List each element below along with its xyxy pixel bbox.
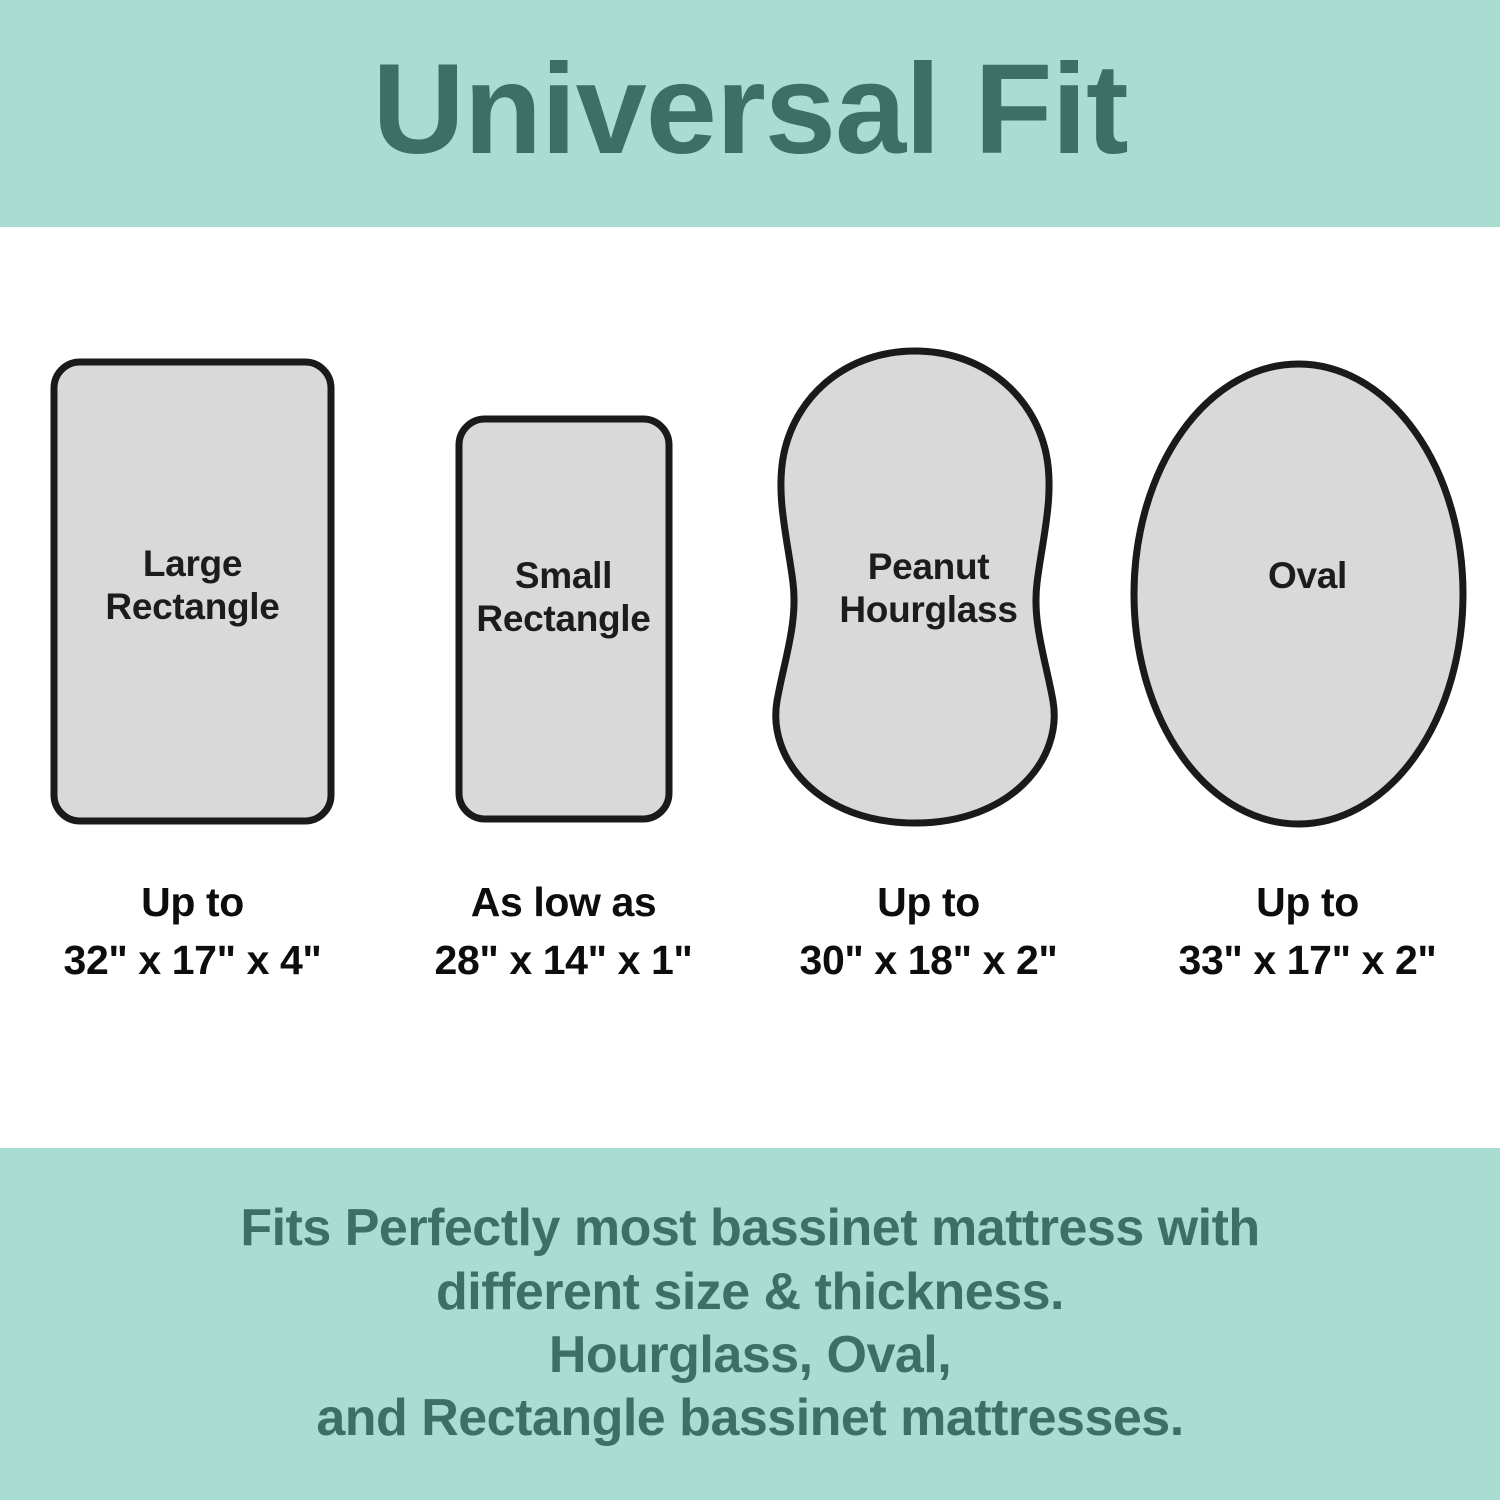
shape-cell-peanut-hourglass: Peanut Hourglass Up to 30" x 18" x 2": [742, 227, 1115, 1148]
shape-label-large-rectangle: Large Rectangle: [0, 542, 385, 629]
footer-line-4: and Rectangle bassinet mattresses.: [316, 1387, 1183, 1450]
shape-caption-peanut-hourglass: Up to 30" x 18" x 2": [742, 873, 1115, 989]
shape-cell-small-rectangle: Small Rectangle As low as 28" x 14" x 1": [385, 227, 742, 1148]
shape-cell-large-rectangle: Large Rectangle Up to 32" x 17" x 4": [0, 227, 385, 1148]
footer-line-3: Hourglass, Oval,: [549, 1324, 951, 1387]
universal-fit-infographic: Universal Fit Large Rectangle Up to 32" …: [0, 0, 1500, 1500]
footer-band: Fits Perfectly most bassinet mattress wi…: [0, 1148, 1500, 1500]
shape-cell-oval: Oval Up to 33" x 17" x 2": [1115, 227, 1500, 1148]
shape-caption-small-rectangle: As low as 28" x 14" x 1": [385, 873, 742, 989]
footer-line-1: Fits Perfectly most bassinet mattress wi…: [240, 1197, 1259, 1260]
shape-label-peanut-hourglass: Peanut Hourglass: [742, 545, 1115, 632]
shape-label-small-rectangle: Small Rectangle: [385, 554, 742, 641]
header-band: Universal Fit: [0, 0, 1500, 227]
footer-line-2: different size & thickness.: [436, 1261, 1064, 1324]
shapes-row: Large Rectangle Up to 32" x 17" x 4" Sma…: [0, 227, 1500, 1148]
shape-caption-oval: Up to 33" x 17" x 2": [1115, 873, 1500, 989]
shape-label-oval: Oval: [1115, 554, 1500, 597]
page-title: Universal Fit: [372, 46, 1127, 174]
shape-caption-large-rectangle: Up to 32" x 17" x 4": [0, 873, 385, 989]
